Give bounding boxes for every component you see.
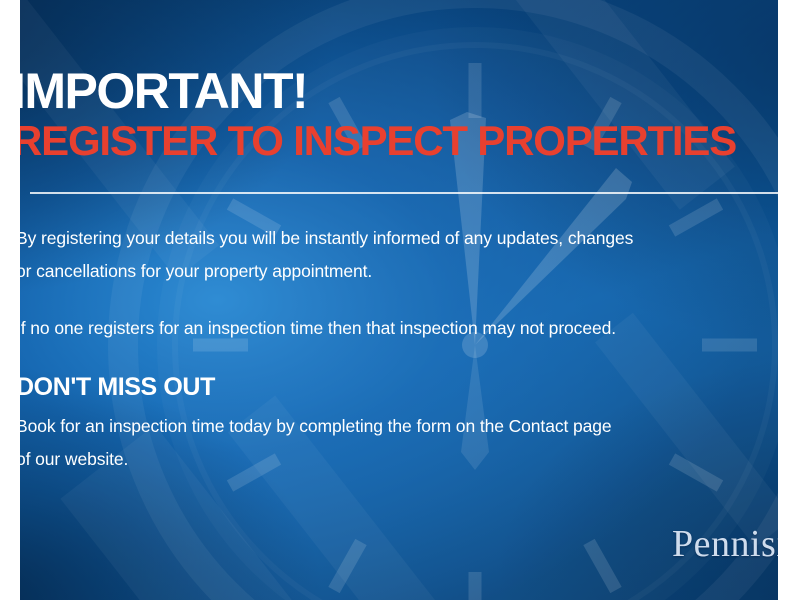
poster-panel: IMPORTANT! REGISTER TO INSPECT PROPERTIE… [20,0,778,600]
body-line-2: or cancellations for your property appoi… [20,255,778,288]
closing-line-1: Book for an inspection time today by com… [20,410,778,443]
headline-primary: IMPORTANT! [20,66,778,116]
body-block: By registering your details you will be … [20,222,778,345]
pennisi-logo: Pennisi [672,524,778,564]
body-line-secondary: If no one registers for an inspection ti… [20,312,778,345]
body-spacer [20,288,778,312]
headline-block: IMPORTANT! REGISTER TO INSPECT PROPERTIE… [20,66,778,164]
poster-canvas: IMPORTANT! REGISTER TO INSPECT PROPERTIE… [0,0,800,600]
closing-block: Book for an inspection time today by com… [20,410,778,476]
headline-divider [30,192,778,194]
poster-content: IMPORTANT! REGISTER TO INSPECT PROPERTIE… [20,0,778,600]
headline-secondary: REGISTER TO INSPECT PROPERTIES [20,118,778,164]
body-line-1: By registering your details you will be … [20,222,778,255]
closing-line-2: of our website. [20,443,778,476]
subheading: DON'T MISS OUT [20,372,215,402]
